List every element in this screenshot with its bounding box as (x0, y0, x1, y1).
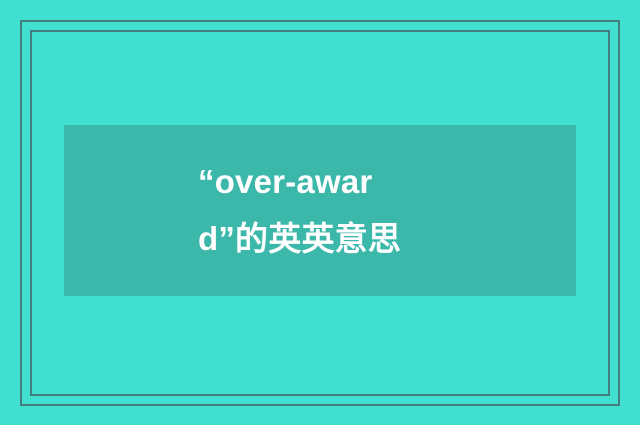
page-title: “over-award”的英英意思 (198, 154, 442, 268)
title-card: “over-award”的英英意思 (0, 0, 640, 425)
headline-panel: “over-award”的英英意思 (64, 125, 576, 296)
